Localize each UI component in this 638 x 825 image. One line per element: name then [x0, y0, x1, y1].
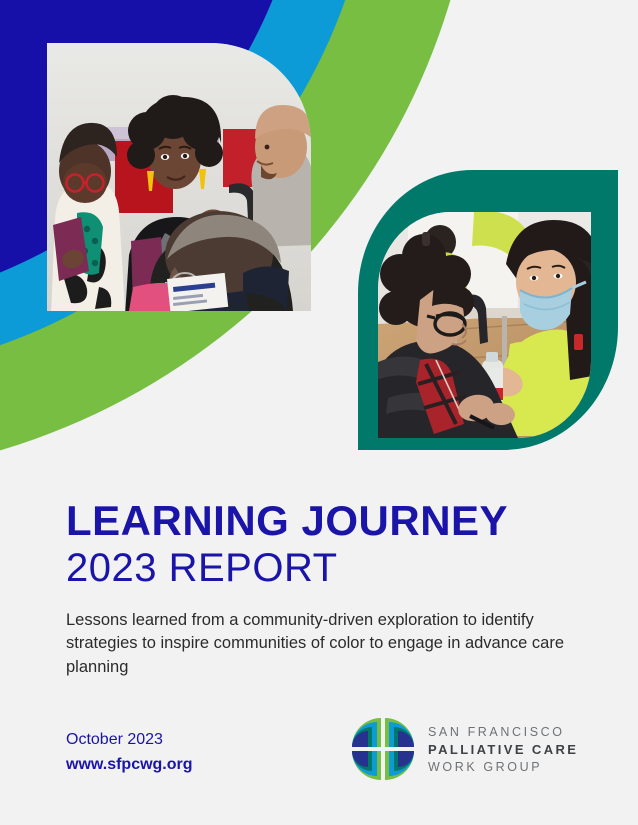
four-petal-clover-icon: [352, 718, 414, 780]
title-block: LEARNING JOURNEY 2023 REPORT Lessons lea…: [66, 500, 586, 679]
wordmark-line-2: PALLIATIVE CARE: [428, 742, 578, 757]
cover-footer: October 2023 www.sfpcwg.org: [0, 718, 638, 788]
hero-graphic: [0, 0, 638, 490]
photo-community-discussion-image: [47, 43, 311, 311]
brand-wordmark: SAN FRANCISCO PALLIATIVE CARE WORK GROUP: [428, 725, 578, 774]
brand-lockup: SAN FRANCISCO PALLIATIVE CARE WORK GROUP: [352, 718, 578, 780]
subtitle-deck: Lessons learned from a community-driven …: [66, 609, 566, 679]
wordmark-line-3: WORK GROUP: [428, 760, 578, 774]
page-title-sub: 2023 REPORT: [66, 546, 586, 591]
website-link[interactable]: www.sfpcwg.org: [66, 756, 193, 773]
clover-petal-top-left: [352, 718, 381, 747]
photo-community-discussion: [47, 43, 311, 311]
wordmark-line-1: SAN FRANCISCO: [428, 725, 578, 739]
clover-petal-top-right: [385, 718, 414, 747]
publication-date: October 2023: [66, 728, 193, 753]
photo-caregiver-and-youth-image: [378, 212, 591, 438]
photo-caregiver-and-youth: [378, 212, 591, 438]
page-title-main: LEARNING JOURNEY: [66, 500, 586, 542]
footer-meta: October 2023 www.sfpcwg.org: [66, 728, 193, 778]
report-cover: LEARNING JOURNEY 2023 REPORT Lessons lea…: [0, 0, 638, 825]
clover-petal-bottom-right: [385, 751, 414, 780]
clover-petal-bottom-left: [352, 751, 381, 780]
